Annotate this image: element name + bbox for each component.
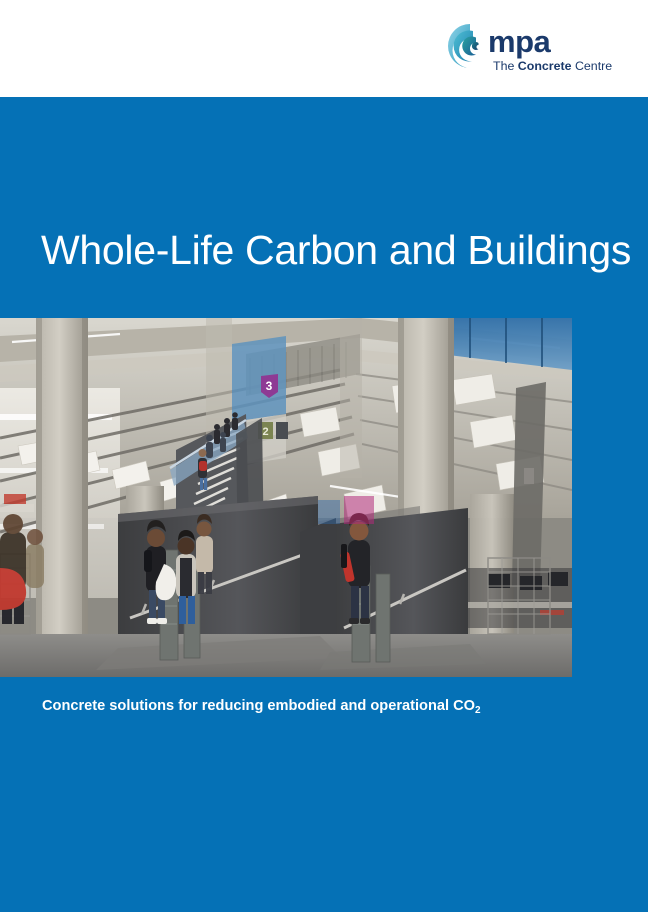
page-title: Whole-Life Carbon and Buildings bbox=[41, 228, 631, 273]
wayfinding-sign-2: 2 bbox=[258, 422, 288, 439]
header-band: mpa The Concrete Centre bbox=[0, 0, 648, 97]
mpa-concrete-centre-logo: mpa The Concrete Centre bbox=[444, 22, 604, 78]
logo-tagline-concrete: Concrete bbox=[518, 59, 572, 73]
mpa-concentric-arcs-icon bbox=[444, 22, 492, 70]
svg-text:2: 2 bbox=[262, 426, 268, 438]
logo-tagline-the: The bbox=[493, 59, 518, 73]
logo-wordmark: mpa bbox=[488, 26, 550, 57]
logo-tagline: The Concrete Centre bbox=[493, 60, 612, 72]
cover-photograph: 3 2 bbox=[0, 318, 572, 677]
cover-subtitle: Concrete solutions for reducing embodied… bbox=[42, 699, 481, 714]
cover-subtitle-text: Concrete solutions for reducing embodied… bbox=[42, 698, 475, 714]
blue-body-panel: Whole-Life Carbon and Buildings bbox=[0, 97, 648, 912]
co2-subscript: 2 bbox=[475, 705, 481, 716]
svg-text:3: 3 bbox=[266, 379, 273, 393]
logo-tagline-centre: Centre bbox=[572, 59, 613, 73]
document-cover-page: mpa The Concrete Centre Whole-Life Carbo… bbox=[0, 0, 648, 912]
